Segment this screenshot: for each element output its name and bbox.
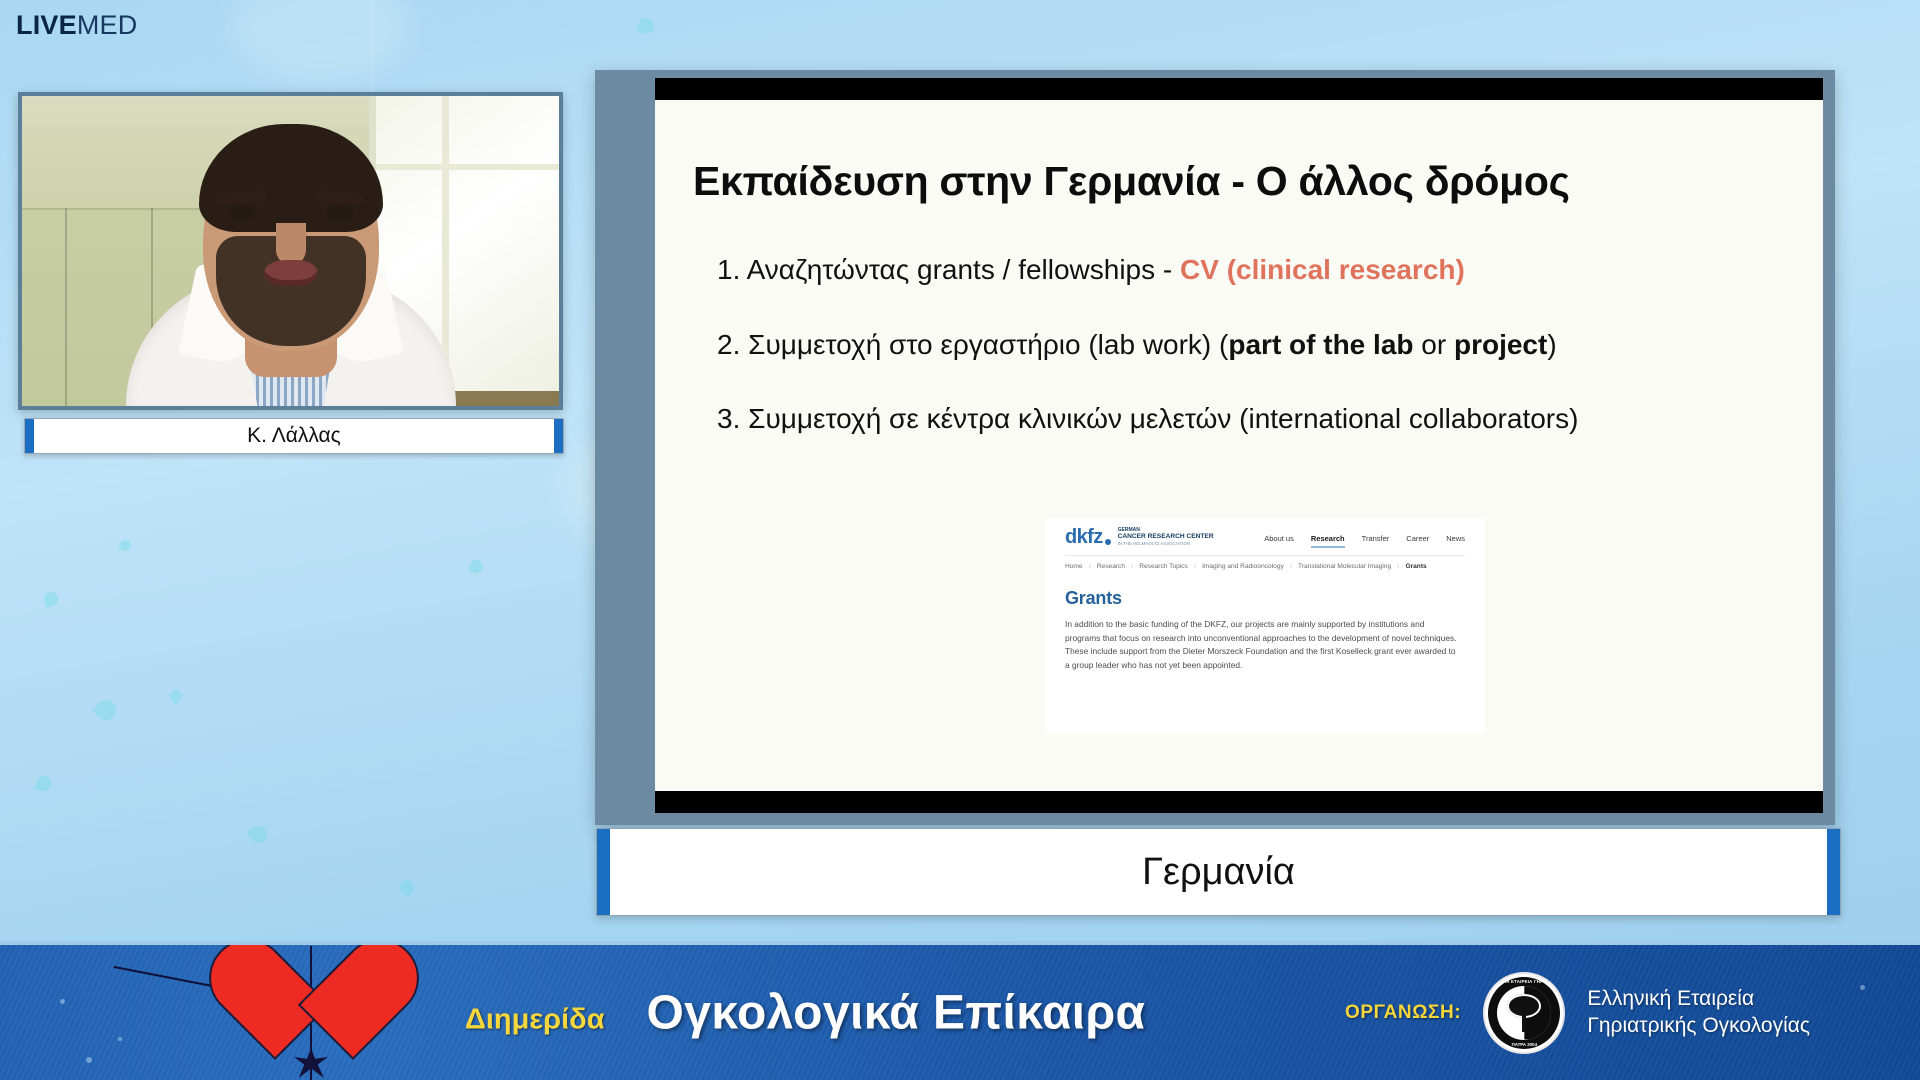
dkfz-tagline-3: IN THE HELMHOLTZ ASSOCIATION <box>1118 541 1214 546</box>
window-mullion <box>376 164 559 170</box>
speaker-nose <box>276 223 306 265</box>
dkfz-logo-tagline: GERMAN CANCER RESEARCH CENTER IN THE HEL… <box>1118 527 1214 547</box>
event-title-group: Διημερίδα Ογκολογικά Επίκαιρα <box>465 985 1145 1040</box>
name-plate-accent-left <box>25 419 34 453</box>
seal-text-top: ΕΛΛΗΝΙΚΗ ΕΤΑΙΡΕΙΑ ΓΗΡΙΑΤΡΙΚΗΣ ΟΓΚΟΛΟΓΙΑΣ <box>1485 979 1563 984</box>
video-background-panel-line <box>65 208 67 406</box>
speaker-eye-right <box>327 206 353 221</box>
bg-speck <box>635 15 656 36</box>
caption-text: Γερμανία <box>1142 851 1295 894</box>
dkfz-tagline-2: CANCER RESEARCH CENTER <box>1118 533 1214 541</box>
breadcrumb-separator: › <box>1397 563 1399 570</box>
logo-med-text: MED <box>77 10 138 40</box>
speaker-mouth <box>264 260 318 286</box>
bg-speck <box>42 590 60 608</box>
footer-speck <box>1860 985 1865 990</box>
dkfz-page-heading: Grants <box>1045 570 1485 609</box>
heart-balloon <box>232 941 392 1080</box>
speaker-name-text: Κ. Λάλλας <box>247 424 341 448</box>
organizer-label: ΟΡΓΑΝΩΣΗ: <box>1345 1002 1461 1024</box>
caption-accent-right <box>1827 829 1840 915</box>
bullet-3-text: Συμμετοχή σε κέντρα κλινικών μελετών (in… <box>740 403 1578 434</box>
dkfz-breadcrumb[interactable]: Home › Research › Research Topics › Imag… <box>1045 556 1485 570</box>
heart-shape <box>242 944 382 1056</box>
event-footer-banner: Διημερίδα Ογκολογικά Επίκαιρα ΟΡΓΑΝΩΣΗ: … <box>0 941 1920 1080</box>
slide-bullet-1: 1. Αναζητώντας grants / fellowships - CV… <box>717 253 1727 288</box>
breadcrumb-separator: › <box>1194 563 1196 570</box>
dkfz-header: dkfz GERMAN CANCER RESEARCH CENTER IN TH… <box>1045 518 1485 547</box>
dkfz-logo-text: dkfz <box>1065 527 1103 547</box>
speaker-name-plate: Κ. Λάλλας <box>24 418 564 454</box>
seal-ring-text: ΕΛΛΗΝΙΚΗ ΕΤΑΙΡΕΙΑ ΓΗΡΙΑΤΡΙΚΗΣ ΟΓΚΟΛΟΓΙΑΣ… <box>1485 974 1563 1052</box>
footer-speck <box>118 1037 122 1041</box>
breadcrumb-imaging-and-radiooncology[interactable]: Imaging and Radiooncology <box>1202 563 1284 570</box>
slide-content: Εκπαίδευση στην Γερμανία - Ο άλλος δρόμο… <box>655 100 1823 791</box>
topic-caption-bar: Γερμανία <box>596 828 1841 916</box>
bullet-2-text: Συμμετοχή στο εργαστήριο (lab work) ( <box>740 329 1228 360</box>
bullet-2-number: 2. <box>717 329 740 360</box>
name-plate-accent-right <box>554 419 563 453</box>
window-mullion <box>442 96 449 391</box>
bullet-2-after: ) <box>1547 329 1556 360</box>
bullet-1-number: 1. <box>717 254 740 285</box>
dkfz-nav-career[interactable]: Career <box>1406 534 1429 543</box>
bullet-3-number: 3. <box>717 403 740 434</box>
seal-text-bottom: ΠΑΤΡΑ 2004 <box>1485 1042 1563 1047</box>
dkfz-nav-news[interactable]: News <box>1446 534 1465 543</box>
bg-blob <box>230 0 410 80</box>
bg-speck <box>35 775 52 792</box>
dkfz-nav[interactable]: About us Research Transfer Career News <box>1264 527 1471 543</box>
speaker-video-panel[interactable] <box>18 92 563 410</box>
presentation-slide-panel[interactable]: Εκπαίδευση στην Γερμανία - Ο άλλος δρόμο… <box>595 70 1835 825</box>
speaker-video-feed[interactable] <box>22 96 559 406</box>
organizer-group: ΟΡΓΑΝΩΣΗ: ΕΛΛΗΝΙΚΗ ΕΤΑΙΡΕΙΑ ΓΗΡΙΑΤΡΙΚΗΣ … <box>1345 972 1810 1054</box>
dkfz-page-body: In addition to the basic funding of the … <box>1045 609 1485 672</box>
bullet-2-bold-1: part of the lab <box>1228 329 1413 360</box>
bg-speck <box>469 559 485 575</box>
organizer-name: Ελληνική Εταιρεία Γηριατρικής Ογκολογίας <box>1587 986 1810 1039</box>
bg-speck <box>168 688 185 705</box>
breadcrumb-research-topics[interactable]: Research Topics <box>1139 563 1188 570</box>
breadcrumb-separator: › <box>1131 563 1133 570</box>
event-pretitle: Διημερίδα <box>465 1003 605 1036</box>
breadcrumb-translational-molecular-imaging[interactable]: Translational Molecular Imaging <box>1298 563 1391 570</box>
broadcast-stage: LIVEMED <box>0 0 1920 1080</box>
bg-speck <box>118 538 133 553</box>
bg-speck <box>247 823 271 847</box>
bullet-1-text: Αναζητώντας grants / fellowships - <box>740 254 1180 285</box>
slide-bullet-2: 2. Συμμετοχή στο εργαστήριο (lab work) (… <box>717 328 1727 363</box>
organizer-name-line-2: Γηριατρικής Ογκολογίας <box>1587 1013 1810 1039</box>
bullet-2-mid: or <box>1414 329 1454 360</box>
speaker-eye-left <box>229 206 255 221</box>
slide-bullet-3: 3. Συμμετοχή σε κέντρα κλινικών μελετών … <box>717 402 1727 437</box>
organizer-name-line-1: Ελληνική Εταιρεία <box>1587 986 1810 1012</box>
logo-live-text: LIVE <box>16 10 77 40</box>
footer-speck <box>60 999 65 1004</box>
breadcrumb-separator: › <box>1089 563 1091 570</box>
slide-title: Εκπαίδευση στην Γερμανία - Ο άλλος δρόμο… <box>693 158 1823 205</box>
dkfz-logo: dkfz GERMAN CANCER RESEARCH CENTER IN TH… <box>1065 527 1214 547</box>
dkfz-nav-about-us[interactable]: About us <box>1264 534 1294 543</box>
bg-speck <box>92 696 120 724</box>
slide-letterbox: Εκπαίδευση στην Γερμανία - Ο άλλος δρόμο… <box>655 78 1823 813</box>
dkfz-logo-dot <box>1105 539 1111 545</box>
bullet-2-bold-2: project <box>1454 329 1547 360</box>
caption-accent-left <box>597 829 610 915</box>
bullet-1-highlight: CV (clinical research) <box>1180 254 1465 285</box>
footer-speck <box>86 1057 92 1063</box>
breadcrumb-separator: › <box>1290 563 1292 570</box>
breadcrumb-home[interactable]: Home <box>1065 563 1083 570</box>
event-title: Ογκολογικά Επίκαιρα <box>647 985 1146 1040</box>
breadcrumb-research[interactable]: Research <box>1097 563 1125 570</box>
organizer-seal-logo: ΕΛΛΗΝΙΚΗ ΕΤΑΙΡΕΙΑ ΓΗΡΙΑΤΡΙΚΗΣ ΟΓΚΟΛΟΓΙΑΣ… <box>1483 972 1565 1054</box>
breadcrumb-grants: Grants <box>1405 563 1426 570</box>
livemed-logo: LIVEMED <box>16 12 137 39</box>
dkfz-website-screenshot: dkfz GERMAN CANCER RESEARCH CENTER IN TH… <box>1045 518 1485 733</box>
dkfz-nav-transfer[interactable]: Transfer <box>1362 534 1390 543</box>
bg-speck <box>397 877 417 897</box>
dkfz-nav-research[interactable]: Research <box>1311 534 1345 543</box>
